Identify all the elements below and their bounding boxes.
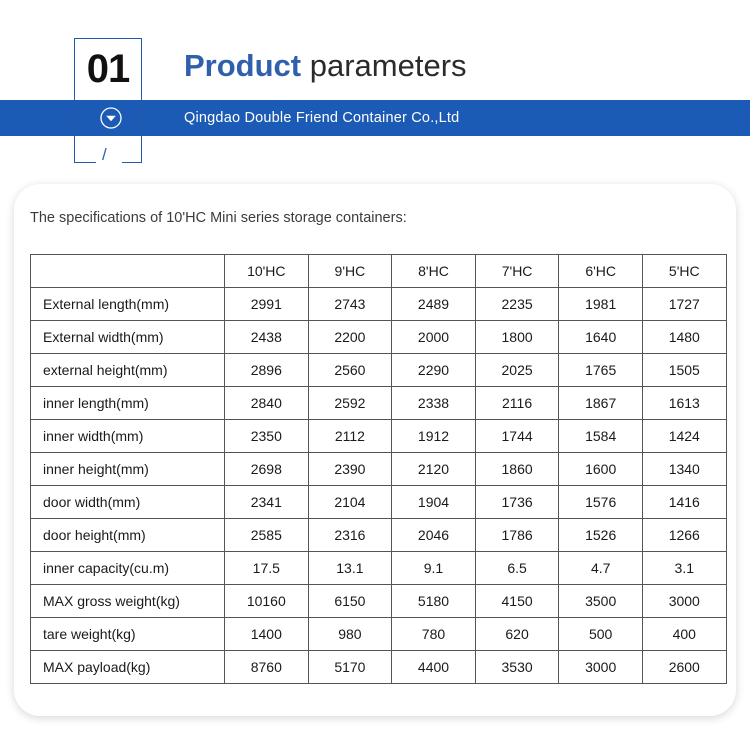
table-header-row: 10'HC9'HC8'HC7'HC6'HC5'HC bbox=[31, 255, 727, 288]
table-cell-value: 400 bbox=[642, 618, 726, 651]
table-row: External width(mm)2438220020001800164014… bbox=[31, 321, 727, 354]
table-row-label: door height(mm) bbox=[31, 519, 225, 552]
table-cell-value: 5180 bbox=[392, 585, 476, 618]
table-cell-value: 620 bbox=[475, 618, 559, 651]
table-cell-value: 1526 bbox=[559, 519, 643, 552]
table-cell-value: 1613 bbox=[642, 387, 726, 420]
table-cell-value: 1640 bbox=[559, 321, 643, 354]
section-number: 01 bbox=[74, 40, 142, 98]
table-row: MAX gross weight(kg)10160615051804150350… bbox=[31, 585, 727, 618]
table-row: external height(mm)289625602290202517651… bbox=[31, 354, 727, 387]
table-cell-value: 4400 bbox=[392, 651, 476, 684]
page-title: Product parameters bbox=[184, 44, 467, 88]
table-body: External length(mm)299127432489223519811… bbox=[31, 288, 727, 684]
table-cell-value: 2390 bbox=[308, 453, 392, 486]
table-row-label: door width(mm) bbox=[31, 486, 225, 519]
table-row: door width(mm)234121041904173615761416 bbox=[31, 486, 727, 519]
table-cell-value: 1505 bbox=[642, 354, 726, 387]
table-cell-value: 2600 bbox=[642, 651, 726, 684]
table-col-header: 6'HC bbox=[559, 255, 643, 288]
table-cell-value: 2046 bbox=[392, 519, 476, 552]
table-cell-value: 4.7 bbox=[559, 552, 643, 585]
table-cell-value: 1340 bbox=[642, 453, 726, 486]
table-cell-value: 1727 bbox=[642, 288, 726, 321]
table-cell-value: 1904 bbox=[392, 486, 476, 519]
table-cell-value: 1416 bbox=[642, 486, 726, 519]
table-row: External length(mm)299127432489223519811… bbox=[31, 288, 727, 321]
table-cell-value: 13.1 bbox=[308, 552, 392, 585]
table-col-header: 5'HC bbox=[642, 255, 726, 288]
specifications-table: 10'HC9'HC8'HC7'HC6'HC5'HC External lengt… bbox=[30, 254, 727, 684]
table-col-header: 9'HC bbox=[308, 255, 392, 288]
table-row-label: tare weight(kg) bbox=[31, 618, 225, 651]
table-row-label: MAX gross weight(kg) bbox=[31, 585, 225, 618]
table-cell-value: 2840 bbox=[225, 387, 309, 420]
table-cell-value: 2000 bbox=[392, 321, 476, 354]
table-cell-value: 1860 bbox=[475, 453, 559, 486]
table-head: 10'HC9'HC8'HC7'HC6'HC5'HC bbox=[31, 255, 727, 288]
table-cell-value: 2560 bbox=[308, 354, 392, 387]
table-cell-value: 2991 bbox=[225, 288, 309, 321]
table-cell-value: 1744 bbox=[475, 420, 559, 453]
table-row: inner height(mm)269823902120186016001340 bbox=[31, 453, 727, 486]
table-row-label: inner capacity(cu.m) bbox=[31, 552, 225, 585]
table-row: door height(mm)258523162046178615261266 bbox=[31, 519, 727, 552]
table-cell-value: 1480 bbox=[642, 321, 726, 354]
table-cell-value: 1584 bbox=[559, 420, 643, 453]
table-row: inner width(mm)235021121912174415841424 bbox=[31, 420, 727, 453]
table-cell-value: 2896 bbox=[225, 354, 309, 387]
table-cell-value: 6.5 bbox=[475, 552, 559, 585]
table-cell-value: 1400 bbox=[225, 618, 309, 651]
table-cell-value: 2290 bbox=[392, 354, 476, 387]
table-row-label: External length(mm) bbox=[31, 288, 225, 321]
table-cell-value: 2489 bbox=[392, 288, 476, 321]
table-cell-value: 6150 bbox=[308, 585, 392, 618]
table-row: inner length(mm)284025922338211618671613 bbox=[31, 387, 727, 420]
table-cell-value: 2025 bbox=[475, 354, 559, 387]
table-cell-value: 1736 bbox=[475, 486, 559, 519]
table-cell-value: 2585 bbox=[225, 519, 309, 552]
table-cell-value: 2235 bbox=[475, 288, 559, 321]
table-col-header: 8'HC bbox=[392, 255, 476, 288]
table-cell-value: 4150 bbox=[475, 585, 559, 618]
table-corner-cell bbox=[31, 255, 225, 288]
table-row: inner capacity(cu.m)17.513.19.16.54.73.1 bbox=[31, 552, 727, 585]
table-row-label: external height(mm) bbox=[31, 354, 225, 387]
table-cell-value: 500 bbox=[559, 618, 643, 651]
company-name: Qingdao Double Friend Container Co.,Ltd bbox=[184, 100, 459, 136]
table-cell-value: 3000 bbox=[559, 651, 643, 684]
table-cell-value: 2592 bbox=[308, 387, 392, 420]
table-cell-value: 8760 bbox=[225, 651, 309, 684]
table-cell-value: 1765 bbox=[559, 354, 643, 387]
table-cell-value: 3000 bbox=[642, 585, 726, 618]
table-col-header: 10'HC bbox=[225, 255, 309, 288]
page-header: / 01 Product parameters Qingdao Double F… bbox=[0, 0, 750, 180]
table-cell-value: 1576 bbox=[559, 486, 643, 519]
table-cell-value: 2341 bbox=[225, 486, 309, 519]
table-row-label: inner height(mm) bbox=[31, 453, 225, 486]
section-number-slash: / bbox=[102, 146, 107, 163]
table-row-label: inner length(mm) bbox=[31, 387, 225, 420]
table-cell-value: 2316 bbox=[308, 519, 392, 552]
spec-card: The specifications of 10'HC Mini series … bbox=[14, 184, 736, 716]
table-cell-value: 1600 bbox=[559, 453, 643, 486]
table-cell-value: 1424 bbox=[642, 420, 726, 453]
table-cell-value: 1981 bbox=[559, 288, 643, 321]
chevron-down-circle-icon bbox=[98, 105, 124, 131]
table-cell-value: 2438 bbox=[225, 321, 309, 354]
table-cell-value: 3.1 bbox=[642, 552, 726, 585]
table-cell-value: 780 bbox=[392, 618, 476, 651]
section-number-box-gap bbox=[96, 155, 122, 167]
table-row-label: MAX payload(kg) bbox=[31, 651, 225, 684]
table-col-header: 7'HC bbox=[475, 255, 559, 288]
table-row-label: inner width(mm) bbox=[31, 420, 225, 453]
spec-intro-text: The specifications of 10'HC Mini series … bbox=[30, 210, 407, 226]
table-cell-value: 1800 bbox=[475, 321, 559, 354]
table-cell-value: 9.1 bbox=[392, 552, 476, 585]
table-row: MAX payload(kg)876051704400353030002600 bbox=[31, 651, 727, 684]
table-row-label: External width(mm) bbox=[31, 321, 225, 354]
table-cell-value: 3500 bbox=[559, 585, 643, 618]
table-cell-value: 17.5 bbox=[225, 552, 309, 585]
page-title-accent: Product bbox=[184, 48, 301, 83]
table-cell-value: 2104 bbox=[308, 486, 392, 519]
table-cell-value: 1266 bbox=[642, 519, 726, 552]
table-cell-value: 5170 bbox=[308, 651, 392, 684]
table-cell-value: 10160 bbox=[225, 585, 309, 618]
table-cell-value: 1867 bbox=[559, 387, 643, 420]
table-cell-value: 2338 bbox=[392, 387, 476, 420]
table-cell-value: 2120 bbox=[392, 453, 476, 486]
table-cell-value: 2743 bbox=[308, 288, 392, 321]
table-cell-value: 1912 bbox=[392, 420, 476, 453]
table-row: tare weight(kg)1400980780620500400 bbox=[31, 618, 727, 651]
table-cell-value: 2350 bbox=[225, 420, 309, 453]
table-cell-value: 2698 bbox=[225, 453, 309, 486]
page-title-rest: parameters bbox=[301, 48, 466, 83]
page-root: / 01 Product parameters Qingdao Double F… bbox=[0, 0, 750, 750]
table-cell-value: 2112 bbox=[308, 420, 392, 453]
table-cell-value: 1786 bbox=[475, 519, 559, 552]
table-cell-value: 2116 bbox=[475, 387, 559, 420]
table-cell-value: 3530 bbox=[475, 651, 559, 684]
table-cell-value: 980 bbox=[308, 618, 392, 651]
table-cell-value: 2200 bbox=[308, 321, 392, 354]
